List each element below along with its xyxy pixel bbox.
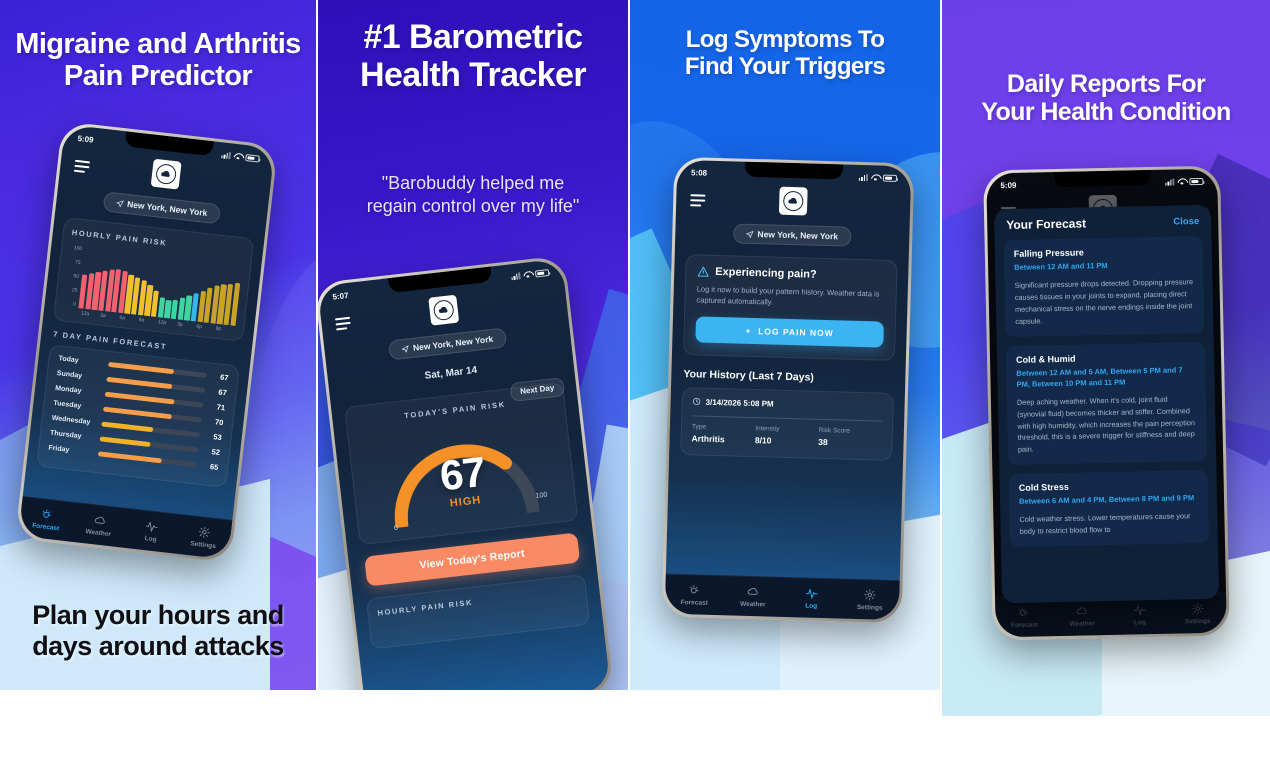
marketing-panel-2: #1 BarometricHealth Tracker "Barobuddy h… [318, 0, 628, 690]
navigation-icon [402, 345, 410, 353]
cloud-icon [92, 513, 106, 527]
panel-4-headline: Daily Reports ForYour Health Condition [942, 70, 1270, 126]
tab-label: Forecast [1011, 621, 1038, 629]
tab-weather[interactable]: Weather [1053, 604, 1111, 628]
clock-icon [693, 397, 701, 405]
signal-icon [1165, 178, 1175, 185]
marketing-panel-4: Daily Reports ForYour Health Condition 5… [942, 0, 1270, 716]
history-field: TypeArthritis [691, 423, 755, 445]
hourly-pain-risk-card: HOURLY PAIN RISK [366, 574, 590, 650]
phone-mockup-2: 5:07 [318, 255, 614, 690]
cloud-icon [746, 585, 759, 598]
forecast-value: 71 [209, 402, 226, 413]
tab-label: Settings [190, 540, 216, 550]
signal-icon [221, 151, 231, 159]
tab-settings[interactable]: Settings [1168, 602, 1226, 626]
divider [692, 415, 882, 421]
forecast-day: Friday [48, 445, 93, 457]
forecast-fill [98, 451, 162, 463]
tab-label: Log [1134, 619, 1146, 626]
forecast-value: 53 [205, 431, 222, 442]
gauge-max-label: 100 [535, 492, 547, 500]
sun-icon [1018, 606, 1031, 619]
status-indicators [859, 173, 898, 181]
forecast-fill [103, 407, 172, 420]
panel-2-headline: #1 BarometricHealth Tracker [318, 18, 628, 94]
status-time: 5:08 [691, 168, 707, 177]
forecast-fill [106, 377, 172, 389]
location-chip[interactable]: New York, New York [102, 191, 221, 224]
forecast-value: 67 [212, 372, 229, 383]
y-tick: 0 [73, 301, 76, 307]
tab-forecast[interactable]: Forecast [995, 605, 1053, 629]
app-logo-icon [150, 159, 181, 190]
y-tick: 50 [73, 273, 79, 280]
y-tick: 75 [75, 259, 81, 266]
phone-2-screen: 5:07 [318, 258, 611, 690]
sun-icon [688, 584, 701, 597]
section-title: Falling Pressure [1014, 245, 1193, 259]
pain-card-header: Experiencing pain? [697, 265, 885, 282]
phone-3-screen: 5:08 [665, 160, 912, 620]
gauge-min-label: 0 [394, 525, 399, 532]
forecast-fill [99, 436, 151, 447]
app-logo-icon [779, 187, 808, 216]
wifi-icon [233, 152, 243, 160]
field-value: Arthritis [691, 433, 755, 445]
x-tick: 9p [215, 326, 235, 334]
tab-label: Weather [1069, 620, 1095, 628]
field-key: Type [692, 423, 755, 432]
forecast-fill [108, 362, 174, 374]
location-chip[interactable]: New York, New York [388, 327, 507, 360]
tab-label: Settings [857, 604, 883, 612]
status-time: 5:09 [77, 133, 94, 144]
section-title: Cold & Humid [1016, 351, 1195, 365]
panel-3-headline: Log Symptoms ToFind Your Triggers [630, 27, 940, 81]
warning-triangle-icon [697, 265, 709, 277]
forecast-fill [101, 421, 154, 432]
experiencing-pain-card: Experiencing pain? Log it now to build y… [683, 254, 898, 360]
gear-icon [863, 588, 876, 601]
x-tick: 3p [177, 321, 197, 329]
modal-header: Your Forecast Close [994, 205, 1212, 241]
tab-log[interactable]: Log [1111, 603, 1169, 627]
sun-icon [40, 507, 54, 521]
phone-1-screen: 5:09 [18, 124, 275, 559]
menu-icon[interactable] [73, 160, 90, 177]
gear-icon [1191, 602, 1204, 615]
tab-log[interactable]: Log [782, 586, 841, 610]
history-section-title: Your History (Last 7 Days) [683, 368, 905, 386]
phone-mockup-3: 5:08 [662, 157, 915, 624]
tab-label: Weather [740, 600, 766, 608]
forecast-value: 65 [202, 461, 219, 472]
x-tick: 6a [119, 315, 139, 323]
tab-settings[interactable]: Settings [840, 588, 899, 612]
close-button[interactable]: Close [1173, 216, 1199, 228]
log-pain-label: LOG PAIN NOW [758, 326, 834, 338]
cloud-icon [1075, 605, 1088, 618]
tab-forecast[interactable]: Forecast [19, 505, 74, 533]
battery-icon [245, 154, 260, 163]
forecast-day: Thursday [50, 430, 95, 442]
tab-label: Forecast [32, 522, 60, 532]
section-body: Deep aching weather. When it's cold, joi… [1017, 393, 1197, 456]
status-time: 5:07 [332, 290, 349, 301]
section-times: Between 6 AM and 4 PM, Between 8 PM and … [1019, 492, 1198, 507]
gear-icon [197, 525, 211, 539]
pulse-icon [1133, 603, 1146, 616]
forecast-day: Monday [55, 385, 100, 397]
forecast-section: Cold & HumidBetween 12 AM and 5 AM, Betw… [1006, 341, 1207, 465]
forecast-day: Today [58, 355, 103, 367]
menu-icon[interactable] [335, 317, 352, 334]
battery-icon [535, 269, 550, 278]
signal-icon [511, 272, 521, 280]
forecast-value: 70 [207, 416, 224, 427]
forecast-section: Cold StressBetween 6 AM and 4 PM, Betwee… [1008, 470, 1208, 547]
tab-log[interactable]: Log [124, 517, 179, 545]
marketing-panel-3: Log Symptoms ToFind Your Triggers 5:08 [630, 0, 940, 690]
x-tick: 9a [138, 317, 158, 325]
seven-day-forecast-card: Today67Sunday67Monday71Tuesday70Wednesda… [36, 344, 240, 488]
modal-title: Your Forecast [1006, 216, 1086, 232]
entry-timestamp: 3/14/2026 5:08 PM [706, 397, 774, 408]
marketing-panel-1: Migraine and ArthritisPain Predictor 5:0… [0, 0, 316, 690]
status-indicators [221, 151, 260, 162]
pulse-icon [805, 587, 818, 600]
panel-2-testimonial: "Barobuddy helped meregain control over … [336, 172, 610, 217]
phone-4-screen: 5:09 [986, 169, 1227, 638]
tab-weather[interactable]: Weather [723, 585, 782, 609]
location-label: New York, New York [412, 334, 493, 353]
menu-icon[interactable] [690, 194, 705, 209]
navigation-icon [116, 199, 124, 207]
tab-label: Log [144, 535, 157, 543]
field-value: 8/10 [755, 435, 819, 447]
section-title: Cold Stress [1019, 479, 1198, 493]
y-tick: 25 [71, 287, 77, 294]
bottom-tab-bar: ForecastWeatherLogSettings [665, 574, 900, 621]
forecast-section: Falling PressureBetween 12 AM and 11 PMS… [1004, 236, 1205, 337]
tab-label: Forecast [681, 599, 708, 607]
section-body: Significant pressure drops detected. Dro… [1014, 276, 1194, 327]
cloud-sun-glyph [437, 305, 450, 316]
phone-mockup-4: 5:09 [983, 166, 1230, 641]
location-label: New York, New York [127, 199, 208, 218]
status-indicators [511, 269, 550, 280]
cloud-sun-glyph [159, 168, 172, 179]
history-entry-fields: TypeArthritisIntensity8/10Risk Score38 [691, 423, 881, 448]
forecast-day: Wednesday [51, 415, 96, 427]
pulse-icon [145, 519, 159, 533]
history-field: Risk Score38 [818, 426, 882, 448]
navigation-icon [746, 230, 753, 237]
plus-icon: + [745, 325, 751, 335]
x-tick: 3a [100, 313, 120, 321]
battery-icon [883, 174, 897, 181]
forecast-day: Tuesday [53, 400, 98, 412]
hourly-pain-risk-card: HOURLY PAIN RISK 1007550250 12a3a6a9a12p… [53, 217, 255, 342]
log-pain-now-button[interactable]: + LOG PAIN NOW [695, 316, 884, 347]
forecast-track [98, 451, 197, 467]
tab-label: Weather [85, 528, 111, 538]
wifi-icon [871, 174, 880, 181]
field-key: Risk Score [818, 426, 881, 435]
section-body: Cold weather stress. Lower temperatures … [1019, 510, 1198, 537]
your-forecast-modal: Your Forecast Close Falling PressureBetw… [994, 205, 1219, 603]
todays-pain-risk-card: TODAY'S PAIN RISK 67 HIGH 0 100 [344, 382, 578, 545]
forecast-value: 52 [204, 446, 221, 457]
forecast-fill [105, 392, 175, 405]
forecast-day: Sunday [56, 370, 101, 382]
field-value: 38 [818, 436, 882, 448]
pain-risk-gauge: 67 HIGH 0 100 [373, 413, 551, 529]
app-logo-icon [428, 295, 459, 326]
wifi-icon [1177, 178, 1186, 185]
status-indicators [1165, 177, 1204, 185]
wifi-icon [523, 270, 533, 278]
x-tick: 12a [80, 310, 100, 318]
tab-forecast[interactable]: Forecast [665, 583, 724, 607]
x-tick: 6p [196, 324, 216, 332]
x-tick: 12p [157, 319, 177, 327]
panel-1-tagline: Plan your hours anddays around attacks [0, 600, 316, 662]
forecast-value: 67 [210, 387, 227, 398]
section-times: Between 12 AM and 11 PM [1014, 258, 1193, 273]
tab-settings[interactable]: Settings [176, 523, 231, 551]
tab-label: Log [805, 602, 817, 609]
panel-1-headline: Migraine and ArthritisPain Predictor [0, 28, 316, 93]
screenshot-stage: Migraine and ArthritisPain Predictor 5:0… [0, 0, 1270, 760]
pain-card-subtitle: Log it now to build your pattern history… [696, 283, 885, 311]
location-label: New York, New York [757, 229, 838, 241]
signal-icon [859, 173, 869, 180]
history-field: Intensity8/10 [755, 425, 819, 447]
status-time: 5:09 [1000, 180, 1016, 189]
field-key: Intensity [755, 425, 818, 434]
section-times: Between 12 AM and 5 AM, Between 5 PM and… [1016, 364, 1195, 390]
tab-label: Settings [1185, 618, 1211, 626]
tab-weather[interactable]: Weather [72, 511, 127, 539]
location-chip[interactable]: New York, New York [733, 223, 851, 246]
forecast-sections-list: Falling PressureBetween 12 AM and 11 PMS… [995, 236, 1218, 547]
hourly-chart-title: HOURLY PAIN RISK [377, 586, 577, 618]
history-entry-date: 3/14/2026 5:08 PM [693, 397, 883, 411]
history-entry-card[interactable]: 3/14/2026 5:08 PM TypeArthritisIntensity… [680, 387, 894, 461]
cloud-sun-glyph [787, 196, 799, 206]
y-tick: 100 [73, 245, 82, 252]
battery-icon [1189, 177, 1203, 184]
pain-card-title: Experiencing pain? [715, 266, 817, 281]
